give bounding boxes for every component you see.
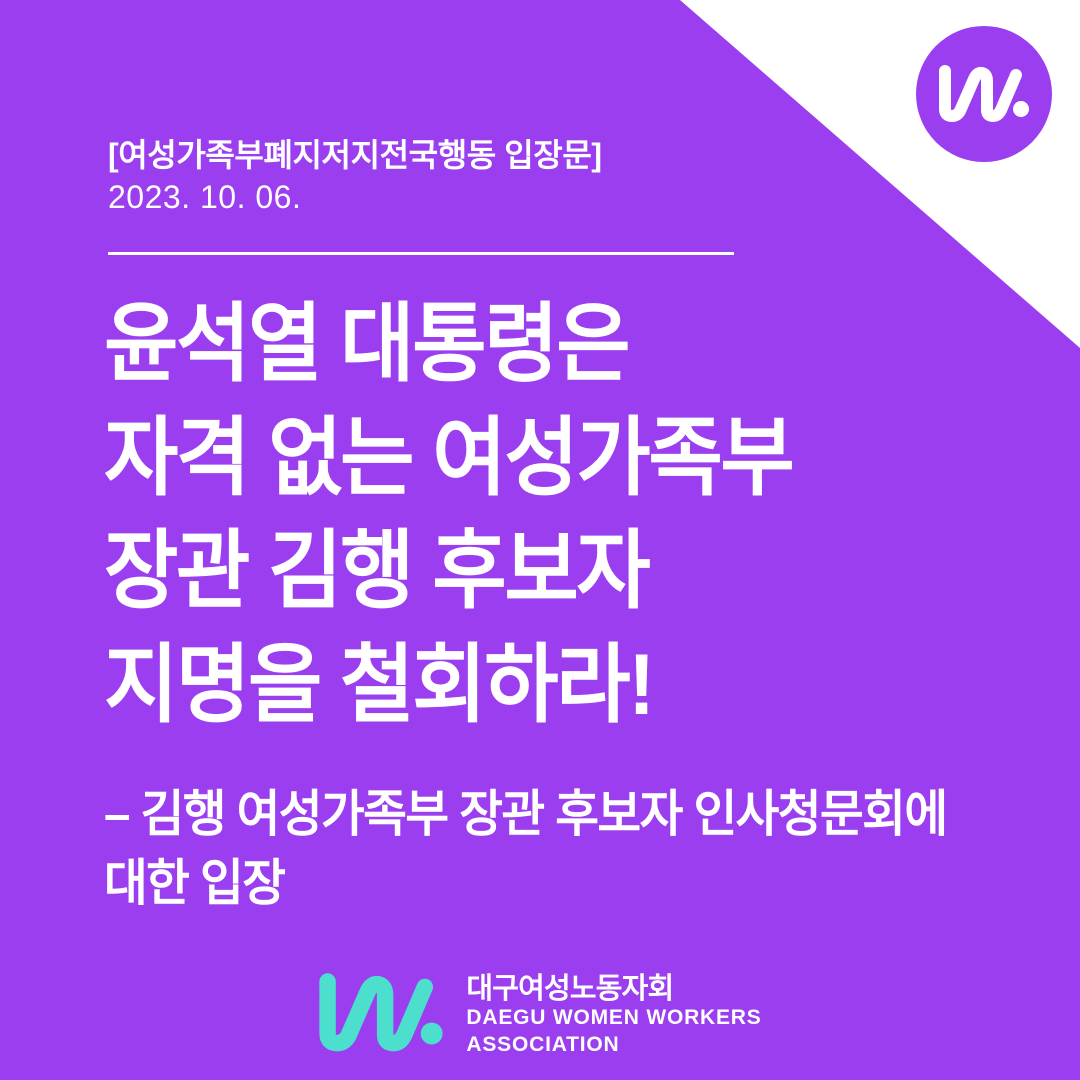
publish-date: 2023. 10. 06. <box>108 176 602 218</box>
header-divider-rule <box>108 252 734 255</box>
headline-line: 윤석열 대통령은 <box>104 288 950 402</box>
headline-block: 윤석열 대통령은 자격 없는 여성가족부 장관 김행 후보자 지명을 철회하라! <box>104 288 1004 742</box>
w-dot-logomark-icon <box>318 973 444 1058</box>
headline-line: 지명을 철회하라! <box>104 629 950 743</box>
footer-org-text: 대구여성노동자회 DAEGU WOMEN WORKERS ASSOCIATION <box>466 973 761 1058</box>
brand-badge <box>916 26 1052 162</box>
headline-line: 장관 김행 후보자 <box>104 515 950 629</box>
w-dot-logomark-icon <box>938 65 1030 123</box>
bracket-title: [여성가족부폐지저지전국행동 입장문] <box>108 134 602 176</box>
subtitle-text: – 김행 여성가족부 장관 후보자 인사청문회에 대한 입장 <box>104 780 959 918</box>
footer-logo-lockup: 대구여성노동자회 DAEGU WOMEN WORKERS ASSOCIATION <box>0 973 1080 1058</box>
poster-card: [여성가족부폐지저지전국행동 입장문] 2023. 10. 06. 윤석열 대통… <box>0 0 1080 1080</box>
org-name-korean: 대구여성노동자회 <box>466 973 761 1005</box>
org-name-english-line1: DAEGU WOMEN WORKERS <box>466 1005 761 1031</box>
org-name-english-line2: ASSOCIATION <box>466 1032 761 1058</box>
headline-line: 자격 없는 여성가족부 <box>104 402 950 516</box>
header-block: [여성가족부폐지저지전국행동 입장문] 2023. 10. 06. <box>108 134 602 218</box>
